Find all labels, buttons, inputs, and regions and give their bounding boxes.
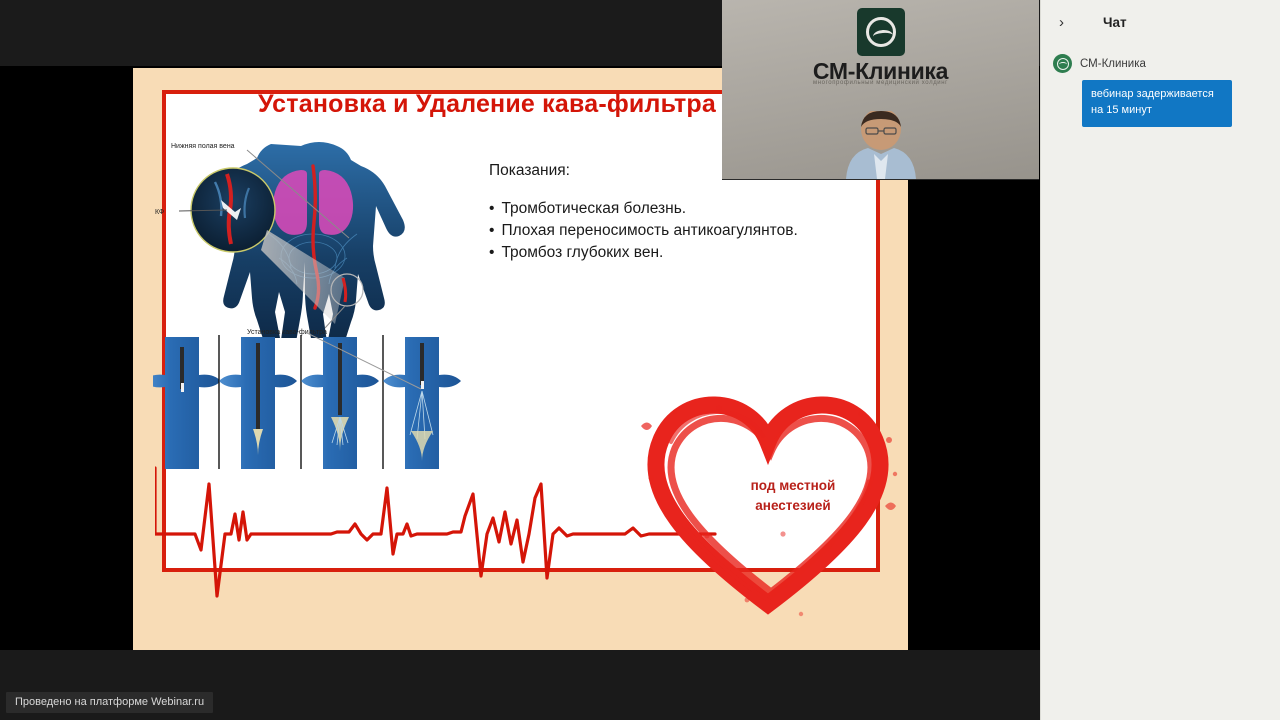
chevron-right-icon[interactable]: › <box>1059 15 1077 30</box>
heart-annotation: под местной анестезией <box>723 476 863 515</box>
anatomy-illustration: Нижняя полая вена КФ Установка кава-филь… <box>149 138 479 338</box>
indication-item: Тромботическая болезнь. <box>489 198 839 220</box>
presenter-figure <box>806 111 956 179</box>
label-vena-cava: Нижняя полая вена <box>171 143 235 150</box>
sm-klinika-logo-icon <box>857 8 905 56</box>
indications-list: Тромботическая болезнь. Плохая переносим… <box>489 198 839 264</box>
heart-annotation-line1: под местной <box>751 478 836 493</box>
vein-sequence-illustration <box>153 333 483 473</box>
chat-message: СМ-Клиника вебинар задерживается на 15 м… <box>1053 54 1268 127</box>
sm-klinika-avatar-icon <box>1053 54 1072 73</box>
slide-title: Установка и Удаление кава-фильтра <box>258 90 716 119</box>
webinar-viewer: Установка и Удаление кава-фильтра <box>0 0 1280 720</box>
chat-message-header: СМ-Клиника <box>1053 54 1268 73</box>
label-filter-abbr: КФ <box>155 209 164 216</box>
heart-annotation-line2: анестезией <box>755 498 830 513</box>
chat-title: Чат <box>1103 15 1127 30</box>
indication-item: Тромбоз глубоких вен. <box>489 242 839 264</box>
chat-header: › Чат <box>1041 0 1280 44</box>
webcam-logo-subtitle: многопрофильный медицинский холдинг <box>813 80 948 86</box>
chat-message-list[interactable]: СМ-Клиника вебинар задерживается на 15 м… <box>1041 44 1280 127</box>
chat-message-author: СМ-Клиника <box>1080 58 1146 70</box>
chat-panel[interactable]: › Чат СМ-Клиника вебинар задерживается н… <box>1040 0 1280 720</box>
presenter-webcam[interactable]: СМ-Клиника многопрофильный медицинский х… <box>722 0 1039 180</box>
indication-item: Плохая переносимость антикоагулянтов. <box>489 220 839 242</box>
platform-watermark: Проведено на платформе Webinar.ru <box>6 692 213 713</box>
chat-message-bubble: вебинар задерживается на 15 минут <box>1082 80 1232 127</box>
